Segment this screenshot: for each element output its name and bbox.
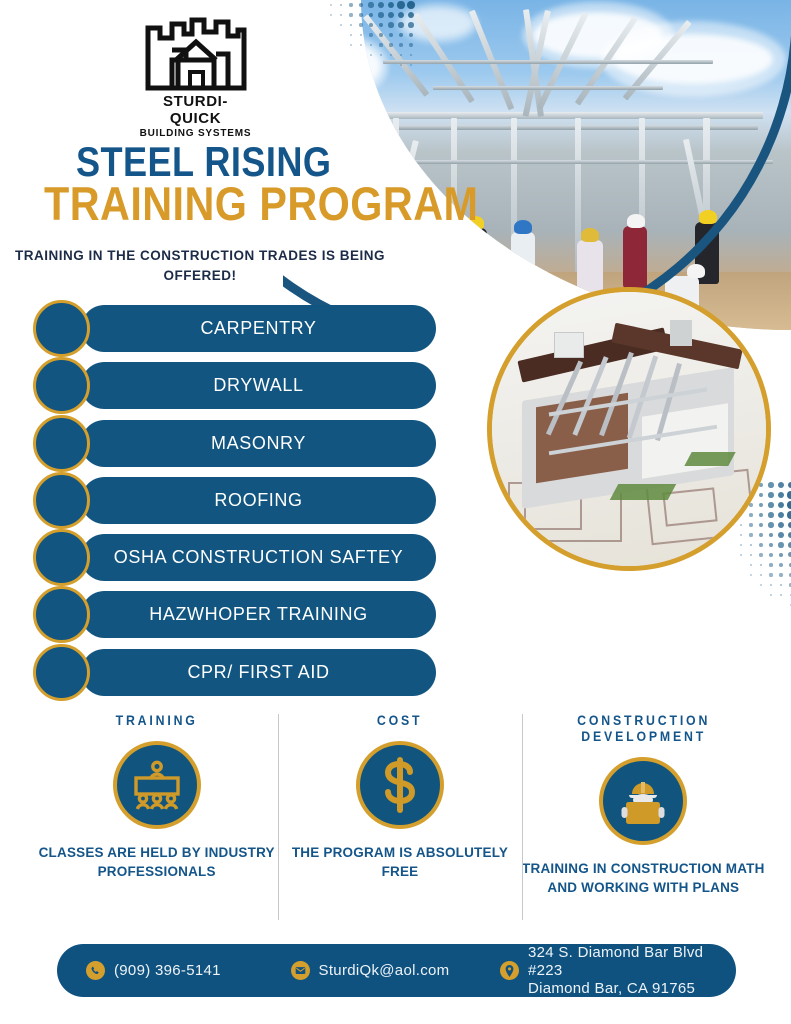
- service-label: DRYWALL: [213, 375, 303, 396]
- service-pill: DRYWALL: [81, 362, 436, 409]
- service-pill: CPR/ FIRST AID: [81, 649, 436, 696]
- halftone-dot: [388, 2, 395, 9]
- service-label: CARPENTRY: [200, 318, 316, 339]
- halftone-dot: [778, 502, 785, 509]
- halftone-dot: [409, 33, 414, 38]
- service-pill: MASONRY: [81, 420, 436, 467]
- halftone-dot: [379, 43, 382, 46]
- worker-with-plans-icon: [615, 775, 671, 827]
- feature-training: TRAINING CLASSES ARE HE: [35, 712, 278, 922]
- contact-email[interactable]: SturdiQk@aol.com: [291, 961, 500, 980]
- halftone-dot: [410, 64, 412, 66]
- halftone-dot: [350, 34, 352, 36]
- service-pill: CARPENTRY: [81, 305, 436, 352]
- service-list: CARPENTRYDRYWALLMASONRYROOFINGOSHA CONST…: [33, 300, 408, 701]
- halftone-dot: [349, 13, 352, 16]
- halftone-dot: [388, 12, 394, 18]
- halftone-dot: [788, 482, 791, 489]
- service-item: ROOFING: [33, 472, 408, 529]
- service-bullet: [33, 357, 90, 414]
- address-text: 324 S. Diamond Bar Blvd #223 Diamond Bar…: [528, 944, 736, 998]
- halftone-dot: [379, 23, 384, 28]
- service-item: OSHA CONSTRUCTION SAFTEY: [33, 529, 408, 586]
- company-logo: STURDI-QUICK BUILDING SYSTEMS: [138, 14, 253, 124]
- halftone-dot: [787, 511, 791, 518]
- city-skyline-house-icon: [142, 14, 250, 92]
- service-item: DRYWALL: [33, 357, 408, 414]
- contact-phone[interactable]: (909) 396-5141: [86, 961, 291, 980]
- halftone-dot: [359, 13, 363, 17]
- halftone-dot: [378, 12, 383, 17]
- halftone-dot: [778, 512, 784, 518]
- service-bullet: [33, 472, 90, 529]
- halftone-dot: [779, 563, 783, 567]
- halftone-dot: [369, 23, 373, 27]
- halftone-dot: [340, 4, 343, 7]
- halftone-dot: [397, 1, 404, 8]
- halftone-dot: [389, 33, 393, 37]
- halftone-dot: [360, 34, 363, 37]
- service-label: HAZWHOPER TRAINING: [149, 604, 367, 625]
- service-bullet: [33, 586, 90, 643]
- worker-plans-icon-wrap: [599, 757, 687, 845]
- halftone-dot: [768, 502, 774, 508]
- halftone-dot: [398, 22, 403, 27]
- halftone-dot: [788, 522, 791, 529]
- halftone-dot: [778, 532, 784, 538]
- halftone-dot: [399, 33, 404, 38]
- halftone-dot: [380, 54, 382, 56]
- halftone-dot: [768, 522, 773, 527]
- flyer-page: STURDI-QUICK BUILDING SYSTEMS STEEL RISI…: [0, 0, 791, 1024]
- headline-secondary: TRAINING PROGRAM: [44, 180, 478, 227]
- halftone-dot: [779, 553, 784, 558]
- service-item: CPR/ FIRST AID: [33, 644, 408, 701]
- halftone-dot: [778, 492, 784, 498]
- halftone-dot: [778, 482, 784, 488]
- service-label: OSHA CONSTRUCTION SAFTEY: [114, 547, 403, 568]
- halftone-dot: [390, 54, 392, 56]
- dollar-sign-icon: [377, 757, 423, 813]
- halftone-dot: [787, 491, 791, 498]
- halftone-dot: [398, 12, 404, 18]
- halftone-dot: [330, 14, 332, 16]
- halftone-dot: [787, 501, 791, 508]
- service-item: MASONRY: [33, 415, 408, 472]
- halftone-dot: [769, 543, 774, 548]
- halftone-dots-top: [286, 0, 416, 110]
- dollar-icon-wrap: [356, 741, 444, 829]
- service-bullet: [33, 644, 90, 701]
- halftone-dot: [770, 584, 772, 586]
- location-pin-icon: [500, 961, 519, 980]
- halftone-dot: [388, 22, 393, 27]
- logo-name: STURDI-QUICK: [138, 93, 253, 127]
- feature-cost: COST THE PROGRAM IS ABSOLUTELY FREE: [278, 712, 521, 922]
- halftone-dot: [349, 3, 352, 6]
- halftone-dot: [780, 584, 783, 587]
- halftone-dot: [778, 542, 783, 547]
- feature-columns: TRAINING CLASSES ARE HE: [35, 712, 765, 922]
- service-bullet: [33, 529, 90, 586]
- halftone-dot: [779, 573, 782, 576]
- halftone-dot: [330, 4, 332, 6]
- service-bullet: [33, 300, 90, 357]
- phone-icon: [86, 961, 105, 980]
- halftone-dot: [369, 13, 374, 18]
- email-address: SturdiQk@aol.com: [319, 962, 450, 980]
- halftone-dot: [350, 24, 353, 27]
- inset-photo-model-house: [487, 287, 771, 571]
- halftone-dot: [768, 512, 773, 517]
- halftone-dot: [768, 482, 773, 487]
- halftone-dot: [379, 33, 383, 37]
- service-label: ROOFING: [214, 490, 302, 511]
- halftone-dot: [769, 573, 772, 576]
- classroom-icon: [131, 760, 183, 810]
- feature-heading: CONSTRUCTION DEVELOPMENT: [536, 712, 750, 744]
- halftone-dot: [780, 594, 782, 596]
- service-item: CARPENTRY: [33, 300, 408, 357]
- service-item: HAZWHOPER TRAINING: [33, 586, 408, 643]
- halftone-dot: [370, 44, 373, 47]
- feature-caption: TRAINING IN CONSTRUCTION MATH AND WORKIN…: [522, 859, 765, 897]
- halftone-dot: [340, 14, 342, 16]
- service-pill: ROOFING: [81, 477, 436, 524]
- service-pill: HAZWHOPER TRAINING: [81, 591, 436, 638]
- halftone-dot: [760, 574, 762, 576]
- service-pill: OSHA CONSTRUCTION SAFTEY: [81, 534, 436, 581]
- halftone-dot: [770, 594, 772, 596]
- halftone-dot: [350, 44, 352, 46]
- feature-construction-development: CONSTRUCTION DEVELOPMENT TRAINING IN CON…: [522, 712, 765, 922]
- service-bullet: [33, 415, 90, 472]
- contact-address[interactable]: 324 S. Diamond Bar Blvd #223 Diamond Bar…: [500, 944, 736, 998]
- halftone-dot: [407, 1, 414, 8]
- halftone-dot: [769, 553, 773, 557]
- halftone-dot: [400, 54, 403, 57]
- envelope-icon: [291, 961, 310, 980]
- halftone-dot: [340, 24, 342, 26]
- halftone-dot: [378, 2, 384, 8]
- halftone-dot: [408, 22, 414, 28]
- feature-heading: COST: [293, 712, 507, 728]
- halftone-dot: [769, 563, 773, 567]
- contact-bar: (909) 396-5141 SturdiQk@aol.com 324 S. D…: [57, 944, 736, 997]
- feature-heading: TRAINING: [50, 712, 264, 728]
- subtitle: TRAINING IN THE CONSTRUCTION TRADES IS B…: [0, 246, 400, 286]
- service-label: MASONRY: [211, 433, 306, 454]
- halftone-dot: [359, 23, 362, 26]
- halftone-dot: [359, 3, 363, 7]
- service-label: CPR/ FIRST AID: [187, 662, 329, 683]
- halftone-dot: [360, 44, 362, 46]
- halftone-dot: [409, 43, 413, 47]
- halftone-dot: [368, 2, 373, 7]
- halftone-dot: [778, 522, 784, 528]
- halftone-dot: [399, 43, 403, 47]
- halftone-dot: [400, 64, 402, 66]
- halftone-dot: [389, 43, 392, 46]
- classroom-icon-wrap: [113, 741, 201, 829]
- halftone-dot: [768, 492, 773, 497]
- phone-number: (909) 396-5141: [114, 962, 221, 980]
- halftone-dot: [408, 12, 415, 19]
- feature-caption: CLASSES ARE HELD BY INDUSTRY PROFESSIONA…: [35, 843, 278, 881]
- halftone-dot: [760, 584, 762, 586]
- halftone-dot: [769, 533, 774, 538]
- feature-caption: THE PROGRAM IS ABSOLUTELY FREE: [278, 843, 521, 881]
- halftone-dot: [410, 54, 413, 57]
- halftone-dot: [750, 574, 752, 576]
- halftone-dot: [370, 54, 372, 56]
- halftone-dot: [369, 33, 372, 36]
